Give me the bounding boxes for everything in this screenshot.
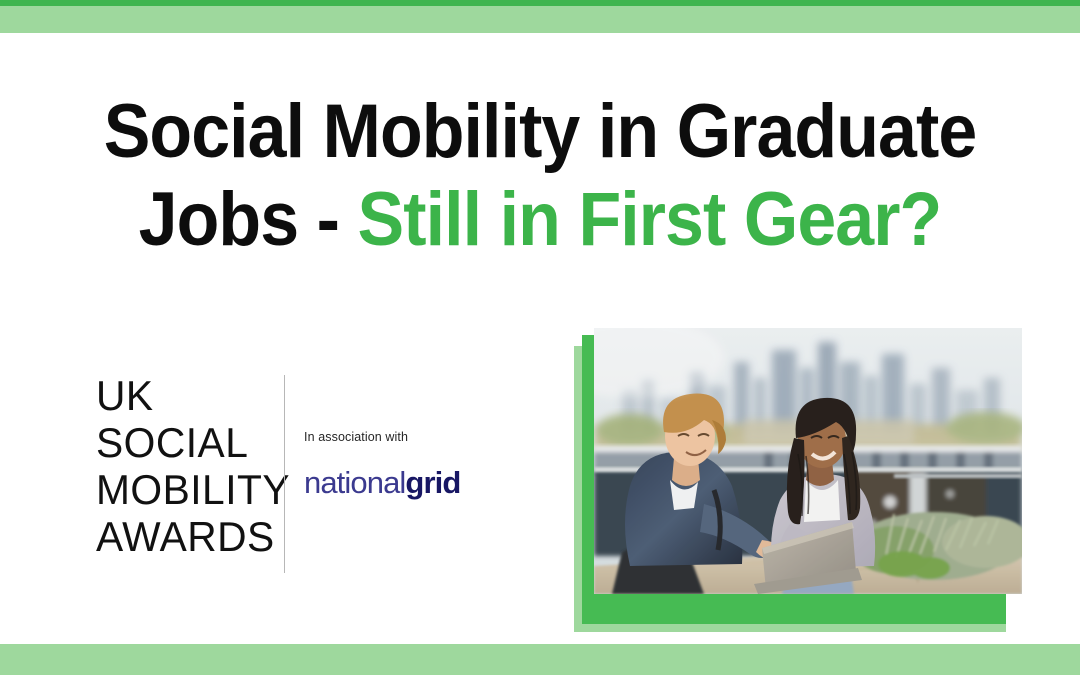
photo-block: [574, 328, 1024, 618]
title-slide: Social Mobility in Graduate Jobs - Still…: [0, 0, 1080, 675]
title-line-1-text: Social Mobility in Graduate: [104, 89, 977, 174]
awards-logo-line-3: MOBILITY: [96, 466, 269, 513]
partner-block: In association with nationalgrid: [304, 430, 524, 500]
top-accent-bar-light: [0, 6, 1080, 33]
association-label: In association with: [304, 430, 524, 444]
national-grid-logo-light: national: [304, 465, 405, 500]
logo-lockup: UK SOCIAL MOBILITY AWARDS In association…: [96, 372, 526, 577]
awards-logo-line-4: AWARDS: [96, 513, 269, 560]
title-line-2-plain: Jobs -: [139, 177, 358, 262]
awards-logo-line-2: SOCIAL: [96, 419, 269, 466]
students-photo: [594, 328, 1022, 594]
awards-logo-line-1: UK: [96, 372, 269, 419]
title-line-2: Jobs - Still in First Gear?: [43, 176, 1037, 264]
slide-title: Social Mobility in Graduate Jobs - Still…: [0, 88, 1080, 264]
bottom-accent-bar-light: [0, 644, 1080, 675]
uk-social-mobility-awards-logo: UK SOCIAL MOBILITY AWARDS: [96, 372, 269, 560]
national-grid-logo: nationalgrid: [304, 466, 524, 500]
national-grid-logo-bold: grid: [405, 465, 460, 500]
title-line-1: Social Mobility in Graduate: [43, 88, 1037, 176]
lockup-divider: [284, 375, 285, 573]
title-line-2-accent: Still in First Gear?: [358, 177, 942, 262]
